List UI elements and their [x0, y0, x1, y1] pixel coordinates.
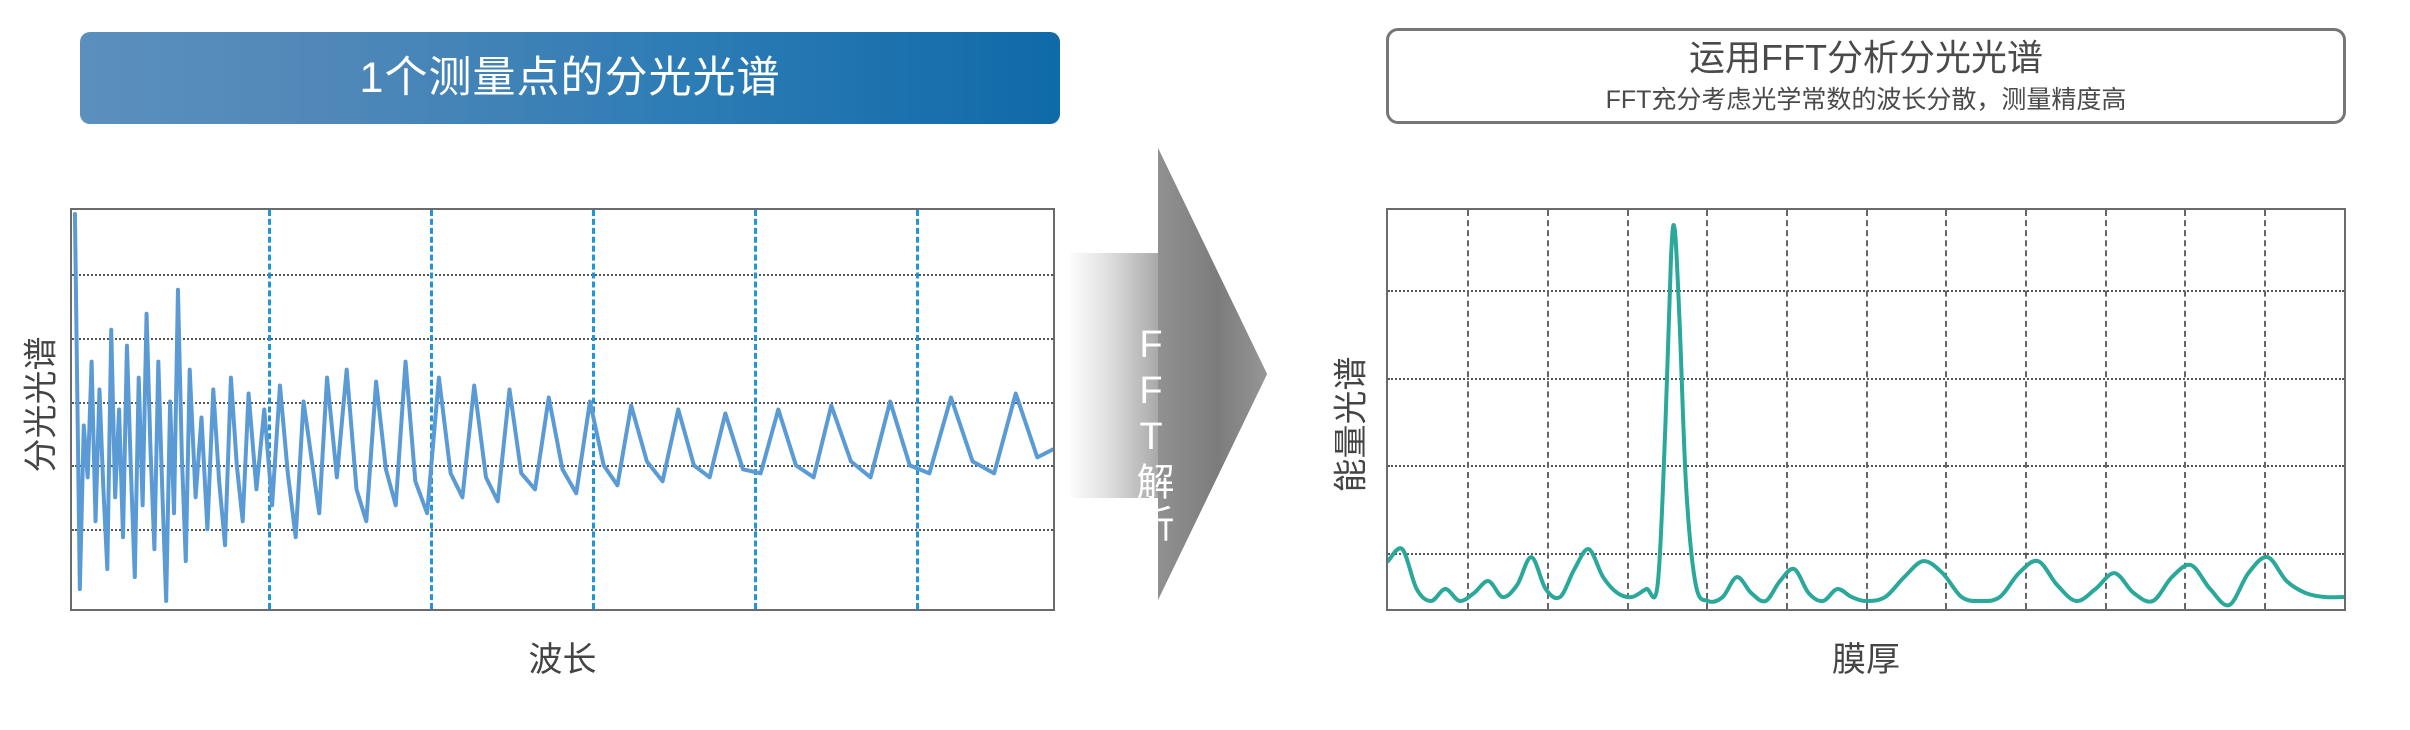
spectral-chart-x-axis-label: 波长 — [70, 632, 1055, 681]
fft-info-title: 运用FFT分析分光光谱 — [1689, 39, 2043, 78]
fft-chart-series — [1388, 210, 2344, 609]
spectral-chart — [70, 208, 1055, 611]
spectral-chart-series — [72, 210, 1053, 609]
left-panel: 1个测量点的分光光谱 分光光谱 波长 — [0, 0, 1060, 730]
fft-chart-y-axis-label: 能量光谱 — [1324, 305, 1373, 545]
fft-arrow-label: FFT解析 — [1088, 270, 1174, 600]
fft-info-subtitle: FFT充分考虑光学常数的波长分散，测量精度高 — [1606, 87, 2127, 115]
spectral-banner-label: 1个测量点的分光光谱 — [360, 57, 781, 100]
spectral-chart-y-axis-label: 分光光谱 — [14, 285, 63, 525]
fft-arrow: FFT解析 — [1070, 118, 1270, 630]
fft-chart — [1386, 208, 2346, 611]
fft-info-box: 运用FFT分析分光光谱 FFT充分考虑光学常数的波长分散，测量精度高 — [1386, 28, 2346, 124]
fft-chart-x-axis-label: 膜厚 — [1386, 632, 2346, 681]
spectral-banner: 1个测量点的分光光谱 — [80, 32, 1060, 124]
